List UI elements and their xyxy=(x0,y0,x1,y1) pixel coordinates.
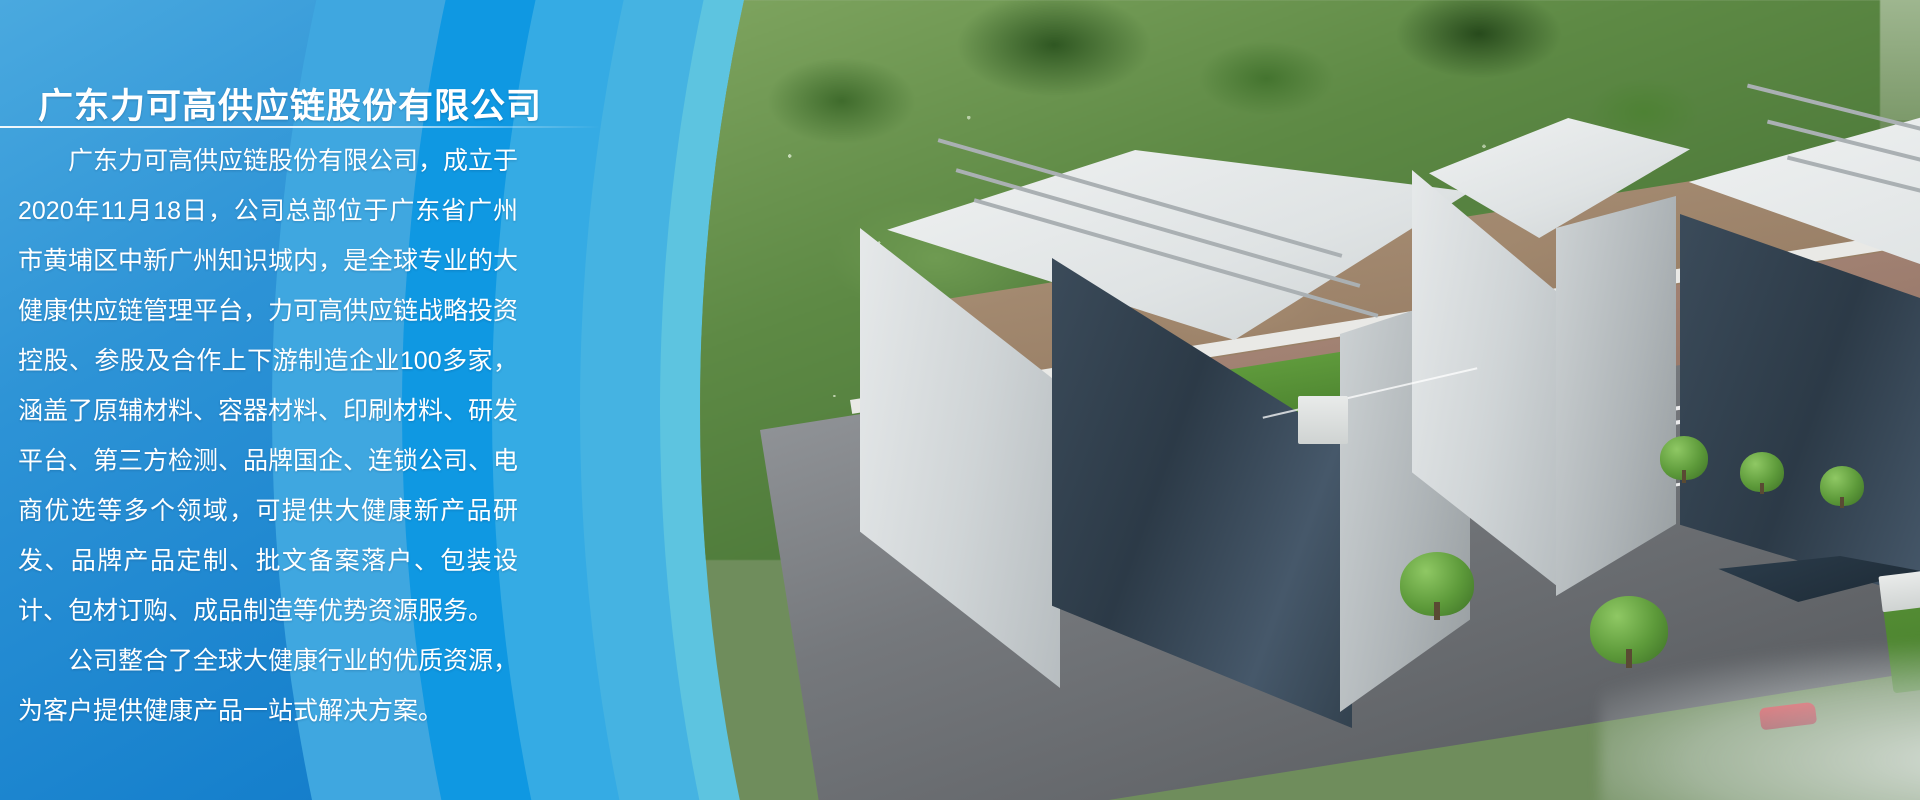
paragraph-1: 广东力可高供应链股份有限公司，成立于2020年11月18日，公司总部位于广东省广… xyxy=(18,136,518,636)
page-title: 广东力可高供应链股份有限公司 xyxy=(38,78,542,129)
industrial-park-photo: 健康制药产业园 xyxy=(700,0,1920,800)
photo-circle-mask: 健康制药产业园 xyxy=(700,0,1920,800)
title-divider xyxy=(0,126,600,128)
photo-tree xyxy=(1400,552,1474,616)
photo-tree xyxy=(1660,436,1708,480)
photo-tree xyxy=(1820,466,1864,506)
photo-ground-mist xyxy=(1600,640,1920,800)
company-description: 广东力可高供应链股份有限公司，成立于2020年11月18日，公司总部位于广东省广… xyxy=(18,136,518,736)
photo-tree xyxy=(1740,452,1784,492)
photo-guard-box xyxy=(1298,396,1348,444)
text-panel: 广东力可高供应链股份有限公司 广东力可高供应链股份有限公司，成立于2020年11… xyxy=(0,0,640,800)
banner-stage: 健康制药产业园 广东力可高供应链股份有限公司 广东力可高供应链股份有限公司，成立… xyxy=(0,0,1920,800)
paragraph-2: 公司整合了全球大健康行业的优质资源，为客户提供健康产品一站式解决方案。 xyxy=(18,636,518,736)
